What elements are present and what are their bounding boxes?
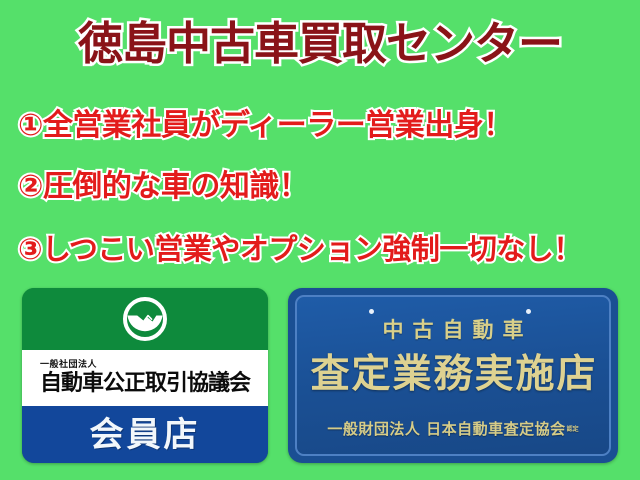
selling-points-list: ①全営業社員がディーラー営業出身！ ②圧倒的な車の知識！ ③しつこい営業やオプシ… [18,96,634,280]
plate-line-organization: 一般財団法人 日本自動車査定協会認定 [288,419,618,440]
plate-line-used-car: 中古自動車 [288,317,618,343]
appraisal-association-plate: 中古自動車 査定業務実施店 一般財団法人 日本自動車査定協会認定 [288,288,618,463]
selling-point-3: ③しつこい営業やオプション強制一切なし！ [18,218,634,280]
page-title: 徳島中古車買取センター [0,14,640,74]
plaque-org-prefix: 一般社団法人 [40,360,97,371]
plate-org-name: 一般財団法人 日本自動車査定協会 [327,420,565,438]
plaque-org-area: 一般社団法人 自動車公正取引協議会 [22,350,268,406]
plate-bolt-right-icon [526,309,531,314]
certification-badges: 一般社団法人 自動車公正取引協議会 会員店 中古自動車 査定業務実施店 一般財団… [0,288,640,466]
plate-line-appraisal-shop: 査定業務実施店 [288,351,618,399]
poster-canvas: 徳島中古車買取センター ①全営業社員がディーラー営業出身！ ②圧倒的な車の知識！… [0,0,640,480]
selling-point-2: ②圧倒的な車の知識！ [18,156,634,218]
plaque-logo-area [22,288,268,350]
fair-trade-council-plaque: 一般社団法人 自動車公正取引協議会 会員店 [22,288,268,463]
plaque-org-name: 自動車公正取引協議会 [40,371,250,397]
plate-bolt-left-icon [369,309,374,314]
plaque-member-area: 会員店 [22,406,268,463]
plaque-member-label: 会員店 [90,415,201,455]
steering-wheel-handshake-icon [121,295,169,343]
plate-org-mark: 認定 [567,426,579,433]
selling-point-1: ①全営業社員がディーラー営業出身！ [18,96,634,156]
